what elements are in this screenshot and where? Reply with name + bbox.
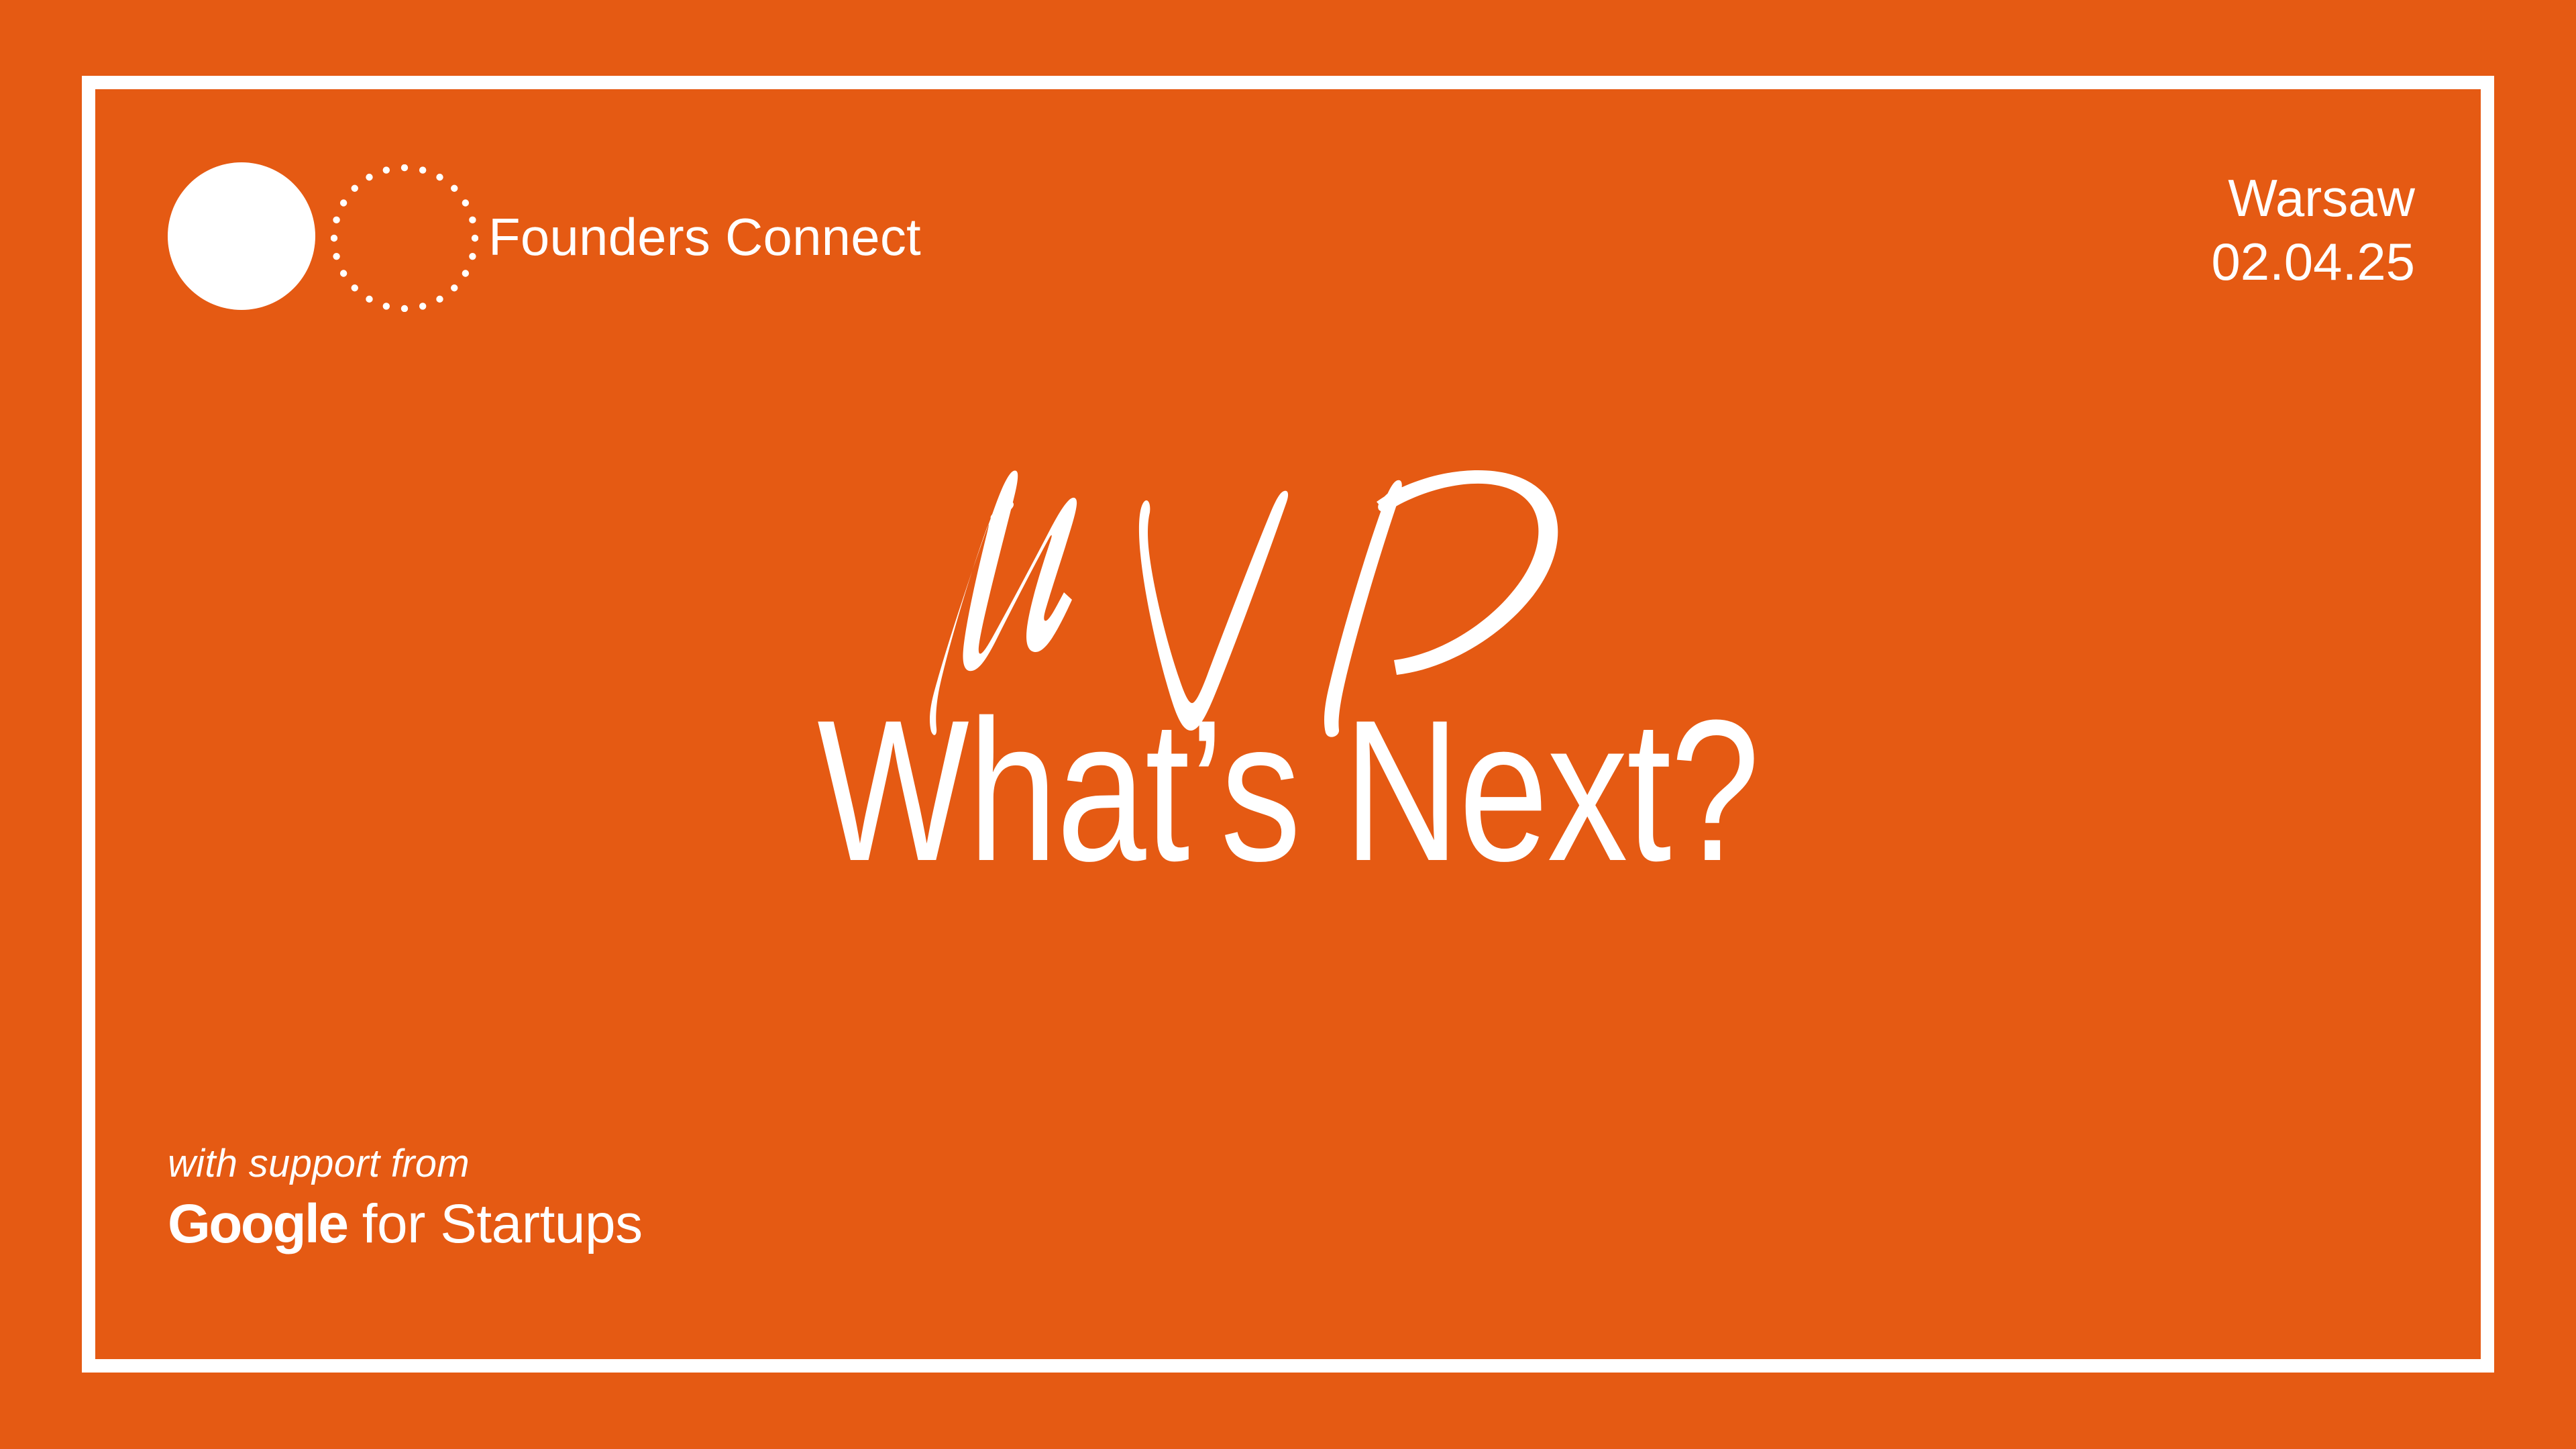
headline-block: What’s Next? [0,429,2576,891]
event-date: 02.04.25 [2211,230,2415,294]
solid-circle-icon [168,162,315,310]
brand-logo [168,161,476,315]
brand-lockup: Founders Connect [168,161,921,315]
google-wordmark: Google [168,1193,347,1254]
event-city: Warsaw [2211,166,2415,230]
dotted-circle-icon [331,164,478,312]
google-for-startups-logo: Google for Startups [168,1194,643,1254]
poster-canvas: Founders Connect Warsaw 02.04.25 [0,0,2576,1449]
brand-name: Founders Connect [488,211,921,263]
for-startups-wordmark: for Startups [347,1193,642,1254]
page-title: What’s Next? [258,690,2318,891]
support-kicker: with support from [168,1141,643,1187]
event-meta: Warsaw 02.04.25 [2211,166,2415,294]
support-credit: with support from Google for Startups [168,1141,643,1254]
